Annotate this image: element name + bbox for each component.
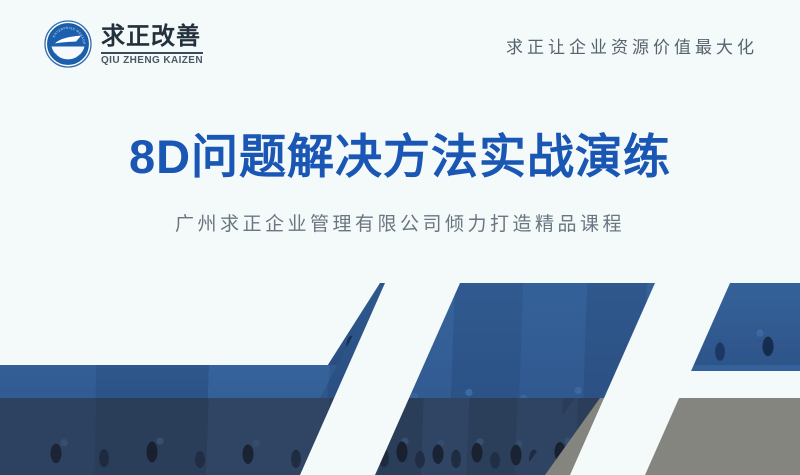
brand-lockup: ENTERPRISE MANAGEMENT QIU ZHENG KAIZEN 求… [44, 20, 203, 68]
circular-swoosh-emblem: ENTERPRISE MANAGEMENT QIU ZHENG KAIZEN [44, 20, 92, 68]
course-sub-title: 广州求正企业管理有限公司倾力打造精品课程 [0, 209, 800, 236]
brand-name-en: QIU ZHENG KAIZEN [101, 55, 203, 66]
emblem-svg: ENTERPRISE MANAGEMENT QIU ZHENG KAIZEN [44, 20, 92, 68]
background-notch-right [655, 371, 800, 398]
course-main-title: 8D问题解决方法实战演练 [0, 128, 800, 187]
brand-divider-rule [101, 52, 203, 54]
brand-text-block: 求正改善 QIU ZHENG KAIZEN [101, 22, 203, 65]
background-notch-left [0, 283, 282, 365]
poster-header: ENTERPRISE MANAGEMENT QIU ZHENG KAIZEN 求… [0, 0, 800, 92]
company-slogan: 求正让企业资源价值最大化 [506, 33, 758, 58]
title-block: 8D问题解决方法实战演练 广州求正企业管理有限公司倾力打造精品课程 [0, 128, 800, 236]
poster-canvas: ENTERPRISE MANAGEMENT QIU ZHENG KAIZEN 求… [0, 0, 800, 475]
brand-name-cn: 求正改善 [101, 24, 203, 49]
